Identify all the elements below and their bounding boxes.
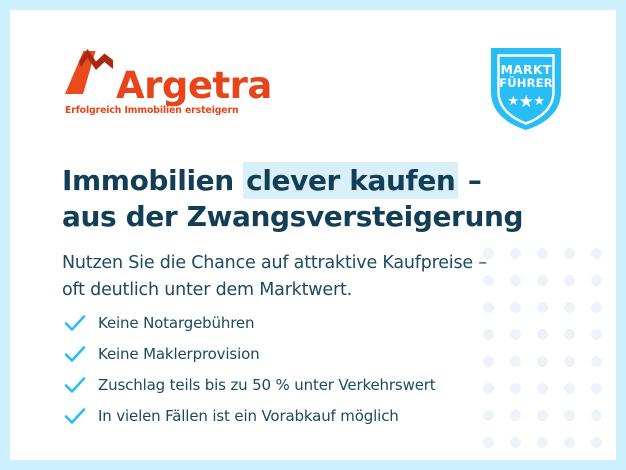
dot bbox=[591, 329, 602, 340]
dot bbox=[483, 356, 494, 367]
check-icon bbox=[63, 344, 87, 364]
list-item: Keine Maklerprovision bbox=[63, 338, 436, 369]
promo-banner: Argetra Erfolgreich Immobilien ersteiger… bbox=[0, 0, 626, 470]
dot bbox=[510, 383, 521, 394]
dot bbox=[564, 275, 575, 286]
dot bbox=[537, 437, 548, 448]
dot bbox=[564, 383, 575, 394]
dot bbox=[564, 248, 575, 259]
dot bbox=[537, 302, 548, 313]
dot bbox=[510, 248, 521, 259]
dot bbox=[537, 248, 548, 259]
list-item: In vielen Fällen ist ein Vorabkauf mögli… bbox=[63, 400, 436, 431]
shield-badge-icon bbox=[485, 42, 567, 134]
subheadline: Nutzen Sie die Chance auf attraktive Kau… bbox=[62, 250, 487, 304]
dot bbox=[591, 302, 602, 313]
logo-row: Argetra bbox=[63, 52, 272, 102]
headline: Immobilien clever kaufen – aus der Zwang… bbox=[62, 163, 523, 235]
dot bbox=[564, 356, 575, 367]
check-icon bbox=[63, 406, 87, 426]
check-item-label: Keine Maklerprovision bbox=[98, 345, 259, 363]
check-item-label: In vielen Fällen ist ein Vorabkauf mögli… bbox=[98, 407, 399, 425]
benefits-checklist: Keine Notargebühren Keine Maklerprovisio… bbox=[63, 307, 436, 431]
dot bbox=[564, 410, 575, 421]
dot bbox=[564, 302, 575, 313]
argetra-a-roof-logo-icon bbox=[63, 47, 115, 102]
dot bbox=[483, 302, 494, 313]
headline-line-2: aus der Zwangsversteigerung bbox=[62, 199, 523, 235]
dot bbox=[510, 302, 521, 313]
dot bbox=[510, 275, 521, 286]
dot bbox=[483, 410, 494, 421]
dot bbox=[510, 329, 521, 340]
logo-wordmark: Argetra bbox=[116, 67, 272, 104]
dot bbox=[591, 275, 602, 286]
banner-content-area: Argetra Erfolgreich Immobilien ersteiger… bbox=[10, 10, 616, 460]
dot bbox=[591, 356, 602, 367]
decorative-dot-grid bbox=[475, 240, 610, 456]
check-item-label: Keine Notargebühren bbox=[98, 314, 254, 332]
market-leader-badge: MARKT FÜHRER ★★★ bbox=[485, 42, 567, 134]
headline-text-after: – bbox=[458, 164, 481, 197]
headline-highlight: clever kaufen bbox=[243, 162, 458, 199]
dot bbox=[510, 437, 521, 448]
dot bbox=[564, 437, 575, 448]
dot bbox=[483, 383, 494, 394]
list-item: Keine Notargebühren bbox=[63, 307, 436, 338]
dot bbox=[483, 329, 494, 340]
dot bbox=[591, 248, 602, 259]
argetra-logo[interactable]: Argetra Erfolgreich Immobilien ersteiger… bbox=[63, 52, 272, 116]
dot bbox=[483, 437, 494, 448]
dot bbox=[591, 437, 602, 448]
dot bbox=[591, 410, 602, 421]
dot bbox=[537, 410, 548, 421]
dot bbox=[537, 383, 548, 394]
check-icon bbox=[63, 375, 87, 395]
dot bbox=[564, 329, 575, 340]
dot bbox=[537, 329, 548, 340]
dot bbox=[510, 356, 521, 367]
subheadline-line-1: Nutzen Sie die Chance auf attraktive Kau… bbox=[62, 250, 487, 277]
dot bbox=[537, 275, 548, 286]
headline-text-before: Immobilien bbox=[62, 164, 243, 197]
check-item-label: Zuschlag teils bis zu 50 % unter Verkehr… bbox=[98, 376, 436, 394]
subheadline-line-2: oft deutlich unter dem Marktwert. bbox=[62, 277, 487, 304]
dot bbox=[591, 383, 602, 394]
check-icon bbox=[63, 313, 87, 333]
dot bbox=[510, 410, 521, 421]
list-item: Zuschlag teils bis zu 50 % unter Verkehr… bbox=[63, 369, 436, 400]
dot bbox=[537, 356, 548, 367]
headline-line-1: Immobilien clever kaufen – bbox=[62, 163, 523, 199]
